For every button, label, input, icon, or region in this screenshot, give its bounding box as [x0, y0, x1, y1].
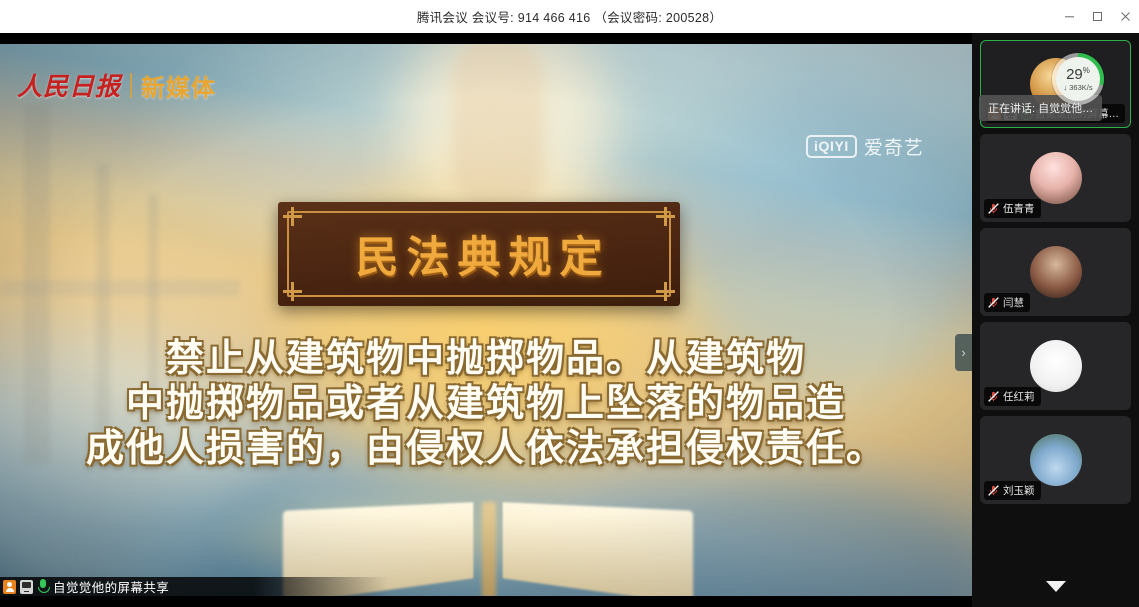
shared-video-frame	[0, 44, 972, 596]
maximize-button[interactable]	[1083, 0, 1111, 33]
participant-tile-1[interactable]: 伍青青	[980, 134, 1131, 222]
window-title-bar: 腾讯会议 会议号: 914 466 416 （会议密码: 200528）	[0, 0, 1139, 33]
participant-name: 任红莉	[1003, 389, 1035, 404]
participant-name: 刘玉颖	[1003, 483, 1035, 498]
minimize-button[interactable]	[1055, 0, 1083, 33]
mic-muted-icon	[987, 484, 1000, 497]
participant-label: 任红莉	[984, 387, 1041, 406]
participant-tile-4[interactable]: 刘玉颖	[980, 416, 1131, 504]
subtitle-block: 禁止从建筑物中抛掷物品。从建筑物 中抛掷物品或者从建筑物上坠落的物品造 成他人损…	[0, 340, 972, 469]
network-badge-core: 29% ↓ 363K/s	[1056, 57, 1100, 101]
microphone-icon	[37, 579, 49, 594]
brand-logo-sub: 新媒体	[141, 68, 216, 103]
avatar	[1030, 246, 1082, 298]
shared-screen-area[interactable]: 人民日报 新媒体 iQIYI 爱奇艺 民法典规定 禁止从建	[0, 44, 972, 596]
chevron-down-icon[interactable]	[1046, 581, 1066, 592]
plaque-corner-ornament-icon	[283, 282, 302, 301]
participant-label: 刘玉颖	[984, 481, 1041, 500]
host-badge-icon	[3, 580, 16, 594]
plaque-corner-ornament-icon	[656, 207, 675, 226]
avatar	[1030, 152, 1082, 204]
mic-muted-icon	[987, 390, 1000, 403]
participant-tile-2[interactable]: 闫慧	[980, 228, 1131, 316]
network-speed-text: ↓ 363K/s	[1063, 84, 1092, 92]
participant-name: 伍青青	[1003, 201, 1035, 216]
avatar	[1030, 434, 1082, 486]
window-title: 腾讯会议 会议号: 914 466 416 （会议密码: 200528）	[417, 7, 722, 26]
iqiyi-watermark: iQIYI 爱奇艺	[806, 133, 924, 160]
chevron-right-icon: ›	[961, 345, 965, 360]
collapse-sidebar-handle[interactable]: ›	[955, 334, 972, 371]
video-vignette	[0, 44, 972, 596]
subtitle-line: 禁止从建筑物中抛掷物品。从建筑物	[0, 340, 972, 379]
close-button[interactable]	[1111, 0, 1139, 33]
participant-name: 闫慧	[1003, 295, 1024, 310]
participant-label: 闫慧	[984, 293, 1030, 312]
subtitle-line: 成他人损害的，由侵权人依法承担侵权责任。	[0, 430, 972, 469]
percent-symbol: %	[1083, 66, 1090, 75]
minimize-icon	[1064, 11, 1075, 22]
brand-logo-main: 人民日报	[17, 67, 121, 103]
avatar	[1030, 340, 1082, 392]
screen-share-label: 自觉觉他的屏幕共享	[53, 577, 169, 596]
close-icon	[1120, 11, 1131, 22]
mic-muted-icon	[987, 296, 1000, 309]
screen-share-icon	[20, 580, 33, 594]
network-speed-badge[interactable]: 29% ↓ 363K/s	[1052, 53, 1104, 105]
logo-divider	[130, 73, 132, 98]
iqiyi-badge: iQIYI	[806, 135, 857, 158]
participant-label: 伍青青	[984, 199, 1041, 218]
plaque-title: 民法典规定	[348, 223, 611, 285]
window-controls	[1055, 0, 1139, 33]
plaque-corner-ornament-icon	[283, 207, 302, 226]
tencent-meeting-window: 腾讯会议 会议号: 914 466 416 （会议密码: 200528）	[0, 0, 1139, 607]
network-percent: 29%	[1066, 67, 1090, 82]
mic-muted-icon	[987, 202, 1000, 215]
network-percent-value: 29	[1066, 66, 1083, 83]
iqiyi-name: 爱奇艺	[864, 133, 924, 160]
subtitle-line: 中抛掷物品或者从建筑物上坠落的物品造	[0, 385, 972, 424]
meeting-stage: 人民日报 新媒体 iQIYI 爱奇艺 民法典规定 禁止从建	[0, 33, 1139, 607]
plaque-corner-ornament-icon	[656, 282, 675, 301]
participant-tile-3[interactable]: 任红莉	[980, 322, 1131, 410]
plaque-border: 民法典规定	[287, 211, 671, 297]
screen-share-status-bar: 自觉觉他的屏幕共享	[0, 577, 972, 596]
title-plaque: 民法典规定	[278, 202, 680, 306]
maximize-icon	[1092, 11, 1103, 22]
peoples-daily-logo: 人民日报 新媒体	[17, 67, 216, 103]
